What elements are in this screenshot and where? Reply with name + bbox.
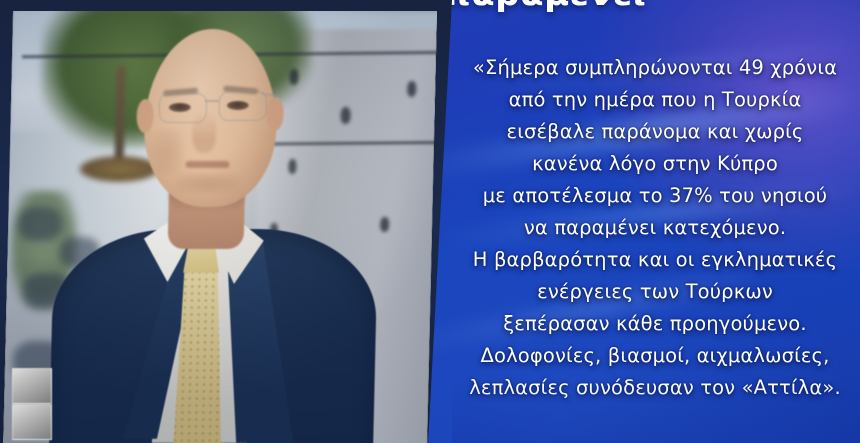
quote-line: λεπλασίες συνόδευσαν τον «Αττίλα». (452, 372, 858, 404)
chin-shadow (175, 173, 239, 193)
thumbnail-tile (12, 404, 52, 440)
broadcast-screenshot: να παραμένει (0, 0, 860, 443)
cheek-shadow (151, 129, 184, 175)
quote-line: εισέβαλε παράνομα και χωρίς (452, 116, 858, 148)
quote-line: Δολοφονίες, βιασμοί, αιχμαλωσίες, (452, 340, 858, 372)
quote-line: κανένα λόγο στην Κύπρο (452, 148, 858, 180)
ear-right (266, 97, 284, 131)
eyeglasses-lens-right (219, 91, 268, 121)
quote-line: να παραμένει κατεχόμενο. (452, 212, 858, 244)
quote-text-block: «Σήμερα συμπληρώνονται 49 χρόνια από την… (452, 52, 858, 404)
quote-line: από την ημέρα που η Τουρκία (452, 84, 858, 116)
eyeglasses-bridge (205, 100, 219, 102)
thumbnail-tile (12, 368, 52, 404)
speaker-figure (3, 11, 437, 443)
quote-line: ξεπέρασαν κάθε προηγούμενο. (452, 308, 858, 340)
nose (192, 111, 217, 153)
mouth (185, 161, 229, 168)
quote-line: με αποτέλεσμα το 37% του νησιού (452, 180, 858, 212)
speaker-photo-panel (0, 0, 452, 443)
photo-content (3, 11, 437, 443)
quote-line: ενέργειες των Τούρκων (452, 276, 858, 308)
quote-line: «Σήμερα συμπληρώνονται 49 χρόνια (452, 52, 858, 84)
quote-line: Η βαρβαρότητα και οι εγκληματικές (452, 244, 858, 276)
